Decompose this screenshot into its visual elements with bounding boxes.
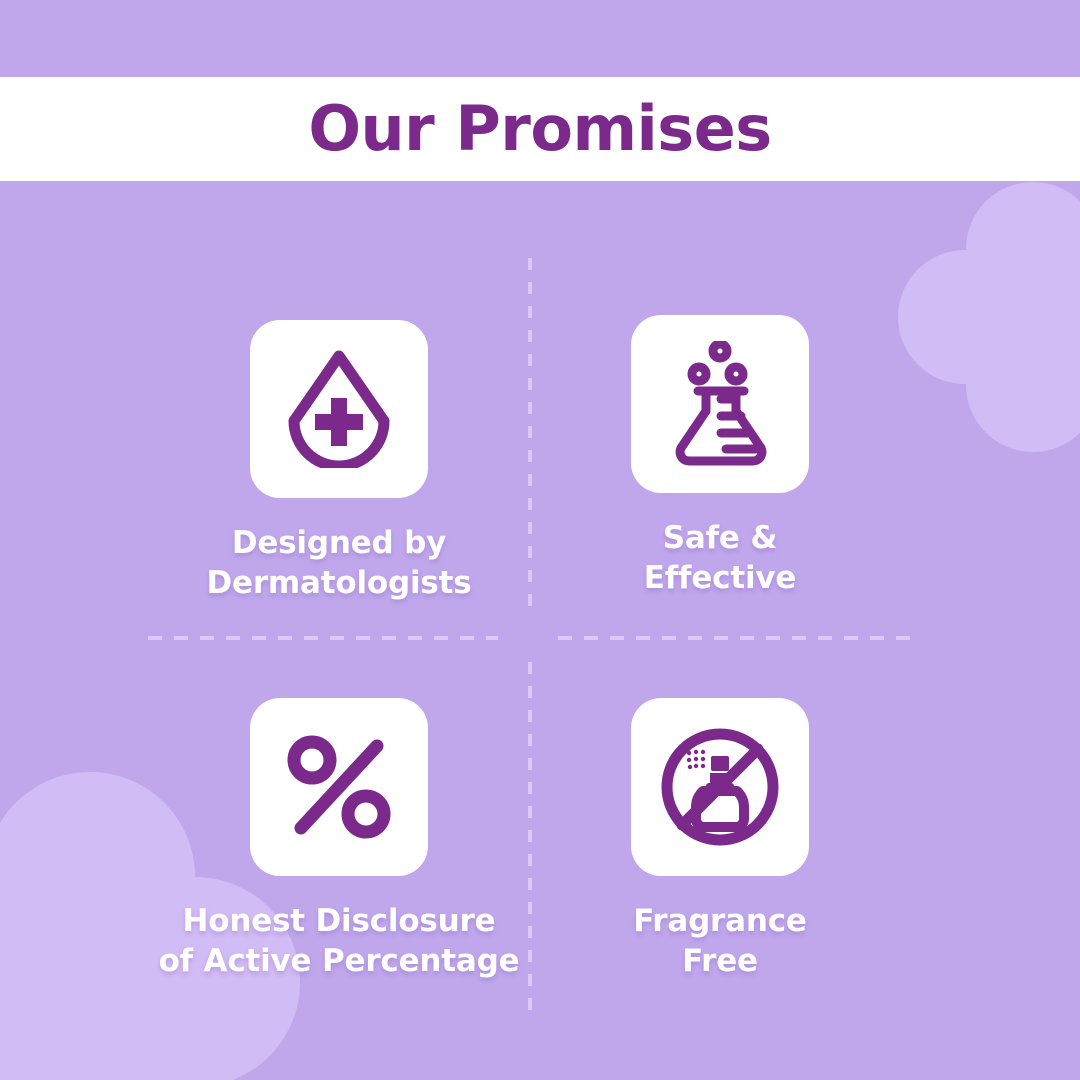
- promise-label: Honest Disclosure of Active Percentage: [159, 902, 520, 981]
- promise-label: Fragrance Free: [633, 902, 806, 981]
- header-band: Our Promises: [0, 77, 1080, 181]
- promise-item-honest-disclosure: Honest Disclosure of Active Percentage: [119, 698, 559, 981]
- droplet-medical-cross-icon: [283, 350, 395, 468]
- promise-icon-card: [631, 315, 809, 493]
- promise-icon-card: [250, 698, 428, 876]
- promise-item-safe-and-effective: Safe & Effective: [500, 315, 940, 598]
- promises-poster: Our Promises Designed by Dermatologists: [0, 0, 1080, 1080]
- promise-icon-card: [631, 698, 809, 876]
- promise-label: Safe & Effective: [644, 519, 796, 598]
- lab-flask-icon: [664, 341, 776, 467]
- promise-icon-card: [250, 320, 428, 498]
- no-fragrance-icon: [658, 725, 782, 849]
- percent-icon: [285, 733, 393, 841]
- promise-item-fragrance-free: Fragrance Free: [500, 698, 940, 981]
- page-title: Our Promises: [308, 98, 771, 160]
- promises-grid: Designed by Dermatologists: [0, 181, 1080, 1080]
- promise-item-designed-by-dermatologists: Designed by Dermatologists: [119, 320, 559, 603]
- promise-label: Designed by Dermatologists: [206, 524, 471, 603]
